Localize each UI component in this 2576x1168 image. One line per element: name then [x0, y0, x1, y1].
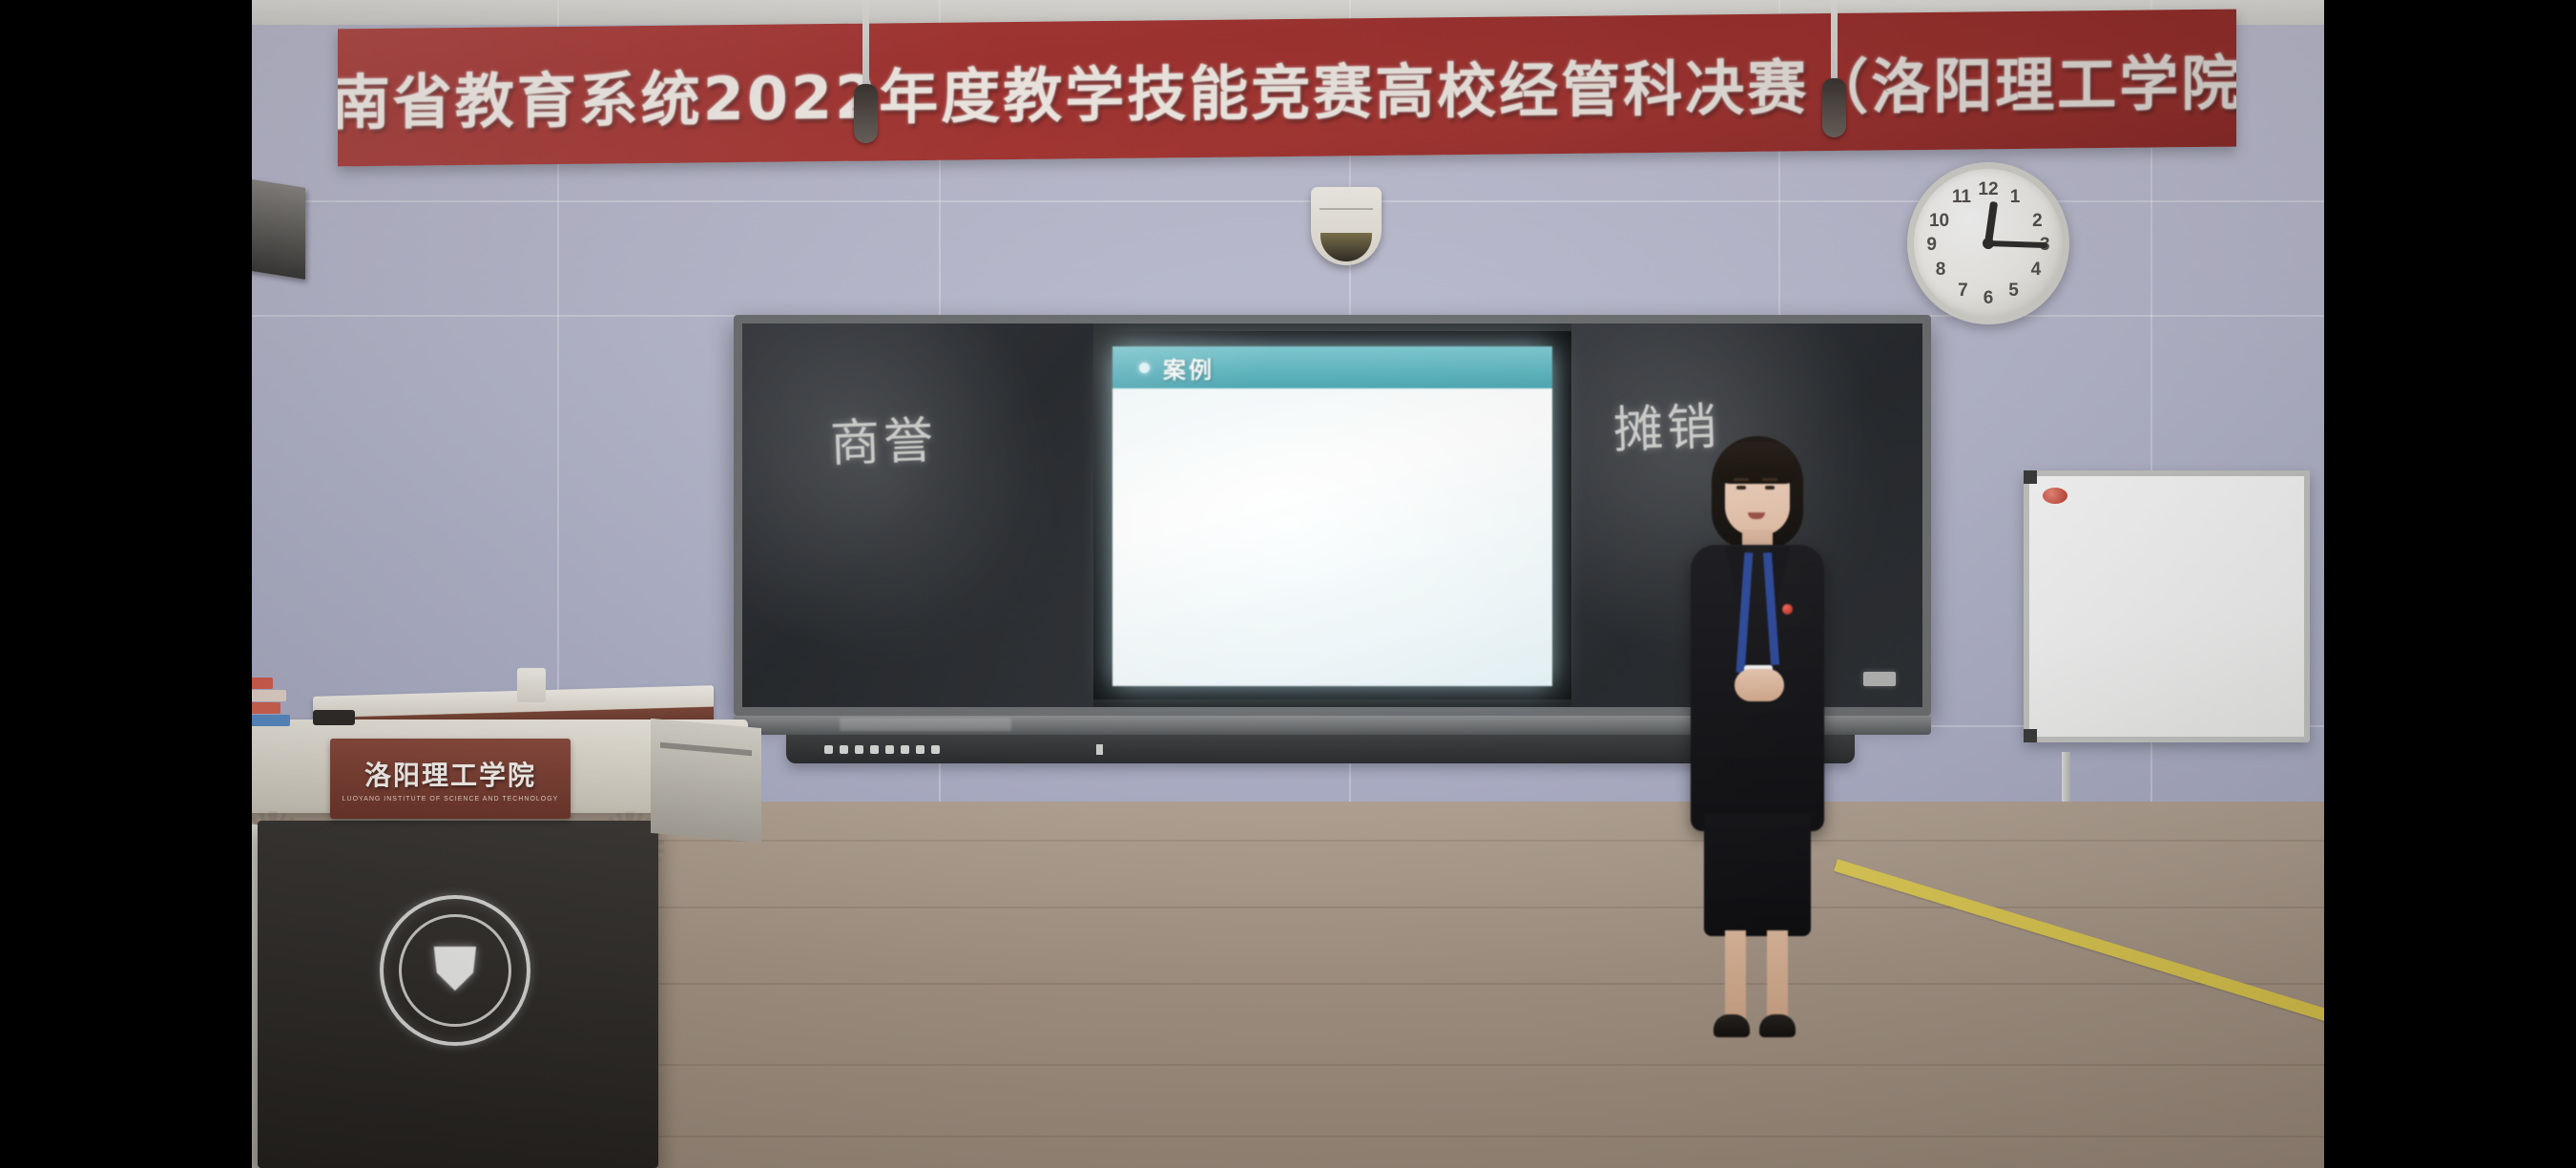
- letterbox-right: [2324, 0, 2576, 1168]
- chalkboard-left: 商誉: [742, 323, 1093, 707]
- hanging-cable-left: [862, 0, 869, 122]
- presenter: [1662, 434, 1853, 1045]
- dome-camera-icon: [1311, 187, 1381, 265]
- slide-header: 案例: [1112, 346, 1552, 388]
- smartboard-buttons[interactable]: [824, 745, 940, 754]
- classroom-video-frame: 河南省教育系统2022年度教学技能竞赛高校经管科决赛（洛阳理工学院） 12 1 …: [252, 0, 2324, 1168]
- power-led-icon: [1096, 744, 1103, 755]
- letterbox-left: [0, 0, 252, 1168]
- plaque-english-name: LUOYANG INSTITUTE OF SCIENCE AND TECHNOL…: [343, 796, 559, 803]
- magnet-icon[interactable]: [2043, 488, 2067, 504]
- clock-minute-hand: [1988, 240, 2047, 248]
- whiteboard-surface[interactable]: [2024, 470, 2310, 742]
- competition-banner: 河南省教育系统2022年度教学技能竞赛高校经管科决赛（洛阳理工学院）: [338, 10, 2236, 167]
- screenshot-stage: 河南省教育系统2022年度教学技能竞赛高校经管科决赛（洛阳理工学院） 12 1 …: [0, 0, 2576, 1168]
- podium-plaque: 洛阳理工学院 LUOYANG INSTITUTE OF SCIENCE AND …: [330, 739, 571, 819]
- slide-body: [1112, 388, 1552, 686]
- podium-microphone-icon: [517, 668, 546, 702]
- book-stack[interactable]: [252, 678, 286, 733]
- wall-clock: 12 1 2 3 4 5 6 7 8 9 10 11: [1907, 162, 2069, 324]
- desk-object[interactable]: [313, 710, 355, 725]
- wall-speaker: [252, 178, 305, 280]
- slide-title: 案例: [1163, 351, 1215, 385]
- banner-text: 河南省教育系统2022年度教学技能竞赛高校经管科决赛（洛阳理工学院）: [338, 34, 2236, 141]
- emblem-glyph: ⛊: [433, 934, 478, 1005]
- hanging-cable-right: [1831, 0, 1838, 116]
- podium-body: ⛊: [258, 821, 658, 1168]
- presenter-hands: [1735, 669, 1784, 701]
- university-emblem-icon: ⛊: [380, 895, 530, 1046]
- chalk-eraser[interactable]: [1863, 672, 1896, 686]
- smartboard-brand-logo: [840, 718, 1011, 731]
- chalk-text-left: 商誉: [829, 400, 939, 475]
- smart-display[interactable]: 案例: [1093, 331, 1571, 699]
- lapel-pin-icon: [1782, 604, 1793, 615]
- side-cabinet: [651, 719, 761, 843]
- bullet-icon: [1139, 363, 1150, 373]
- plaque-chinese-name: 洛阳理工学院: [364, 755, 536, 793]
- presentation-slide[interactable]: 案例: [1112, 346, 1552, 686]
